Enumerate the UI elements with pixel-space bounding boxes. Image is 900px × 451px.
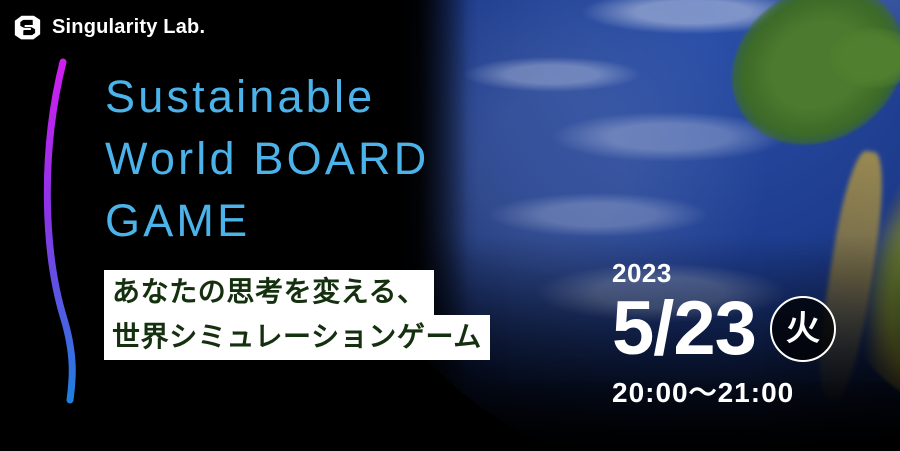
event-banner: Singularity Lab. Sustainable World BOARD…	[0, 0, 900, 451]
tagline: あなたの思考を変える、 世界シミュレーションゲーム	[104, 270, 490, 360]
event-time: 20:00〜21:00	[612, 376, 836, 410]
headline-line-1: Sustainable	[105, 66, 429, 128]
day-of-week-badge: 火	[770, 296, 836, 362]
gradient-curve-decoration	[34, 44, 104, 414]
event-year: 2023	[612, 258, 836, 288]
headline: Sustainable World BOARD GAME	[105, 66, 429, 252]
headline-line-3: GAME	[105, 190, 429, 252]
tagline-line-1: あなたの思考を変える、	[104, 270, 434, 315]
tagline-line-2: 世界シミュレーションゲーム	[104, 315, 490, 360]
headline-line-2: World BOARD	[105, 128, 429, 190]
singularity-s-mark-icon	[14, 14, 41, 41]
brand-name: Singularity Lab.	[52, 16, 205, 39]
brand-logo[interactable]: Singularity Lab.	[14, 14, 205, 41]
event-date-row: 5/23 火	[612, 290, 836, 368]
event-date-block: 2023 5/23 火 20:00〜21:00	[612, 258, 836, 410]
event-date: 5/23	[612, 290, 756, 368]
